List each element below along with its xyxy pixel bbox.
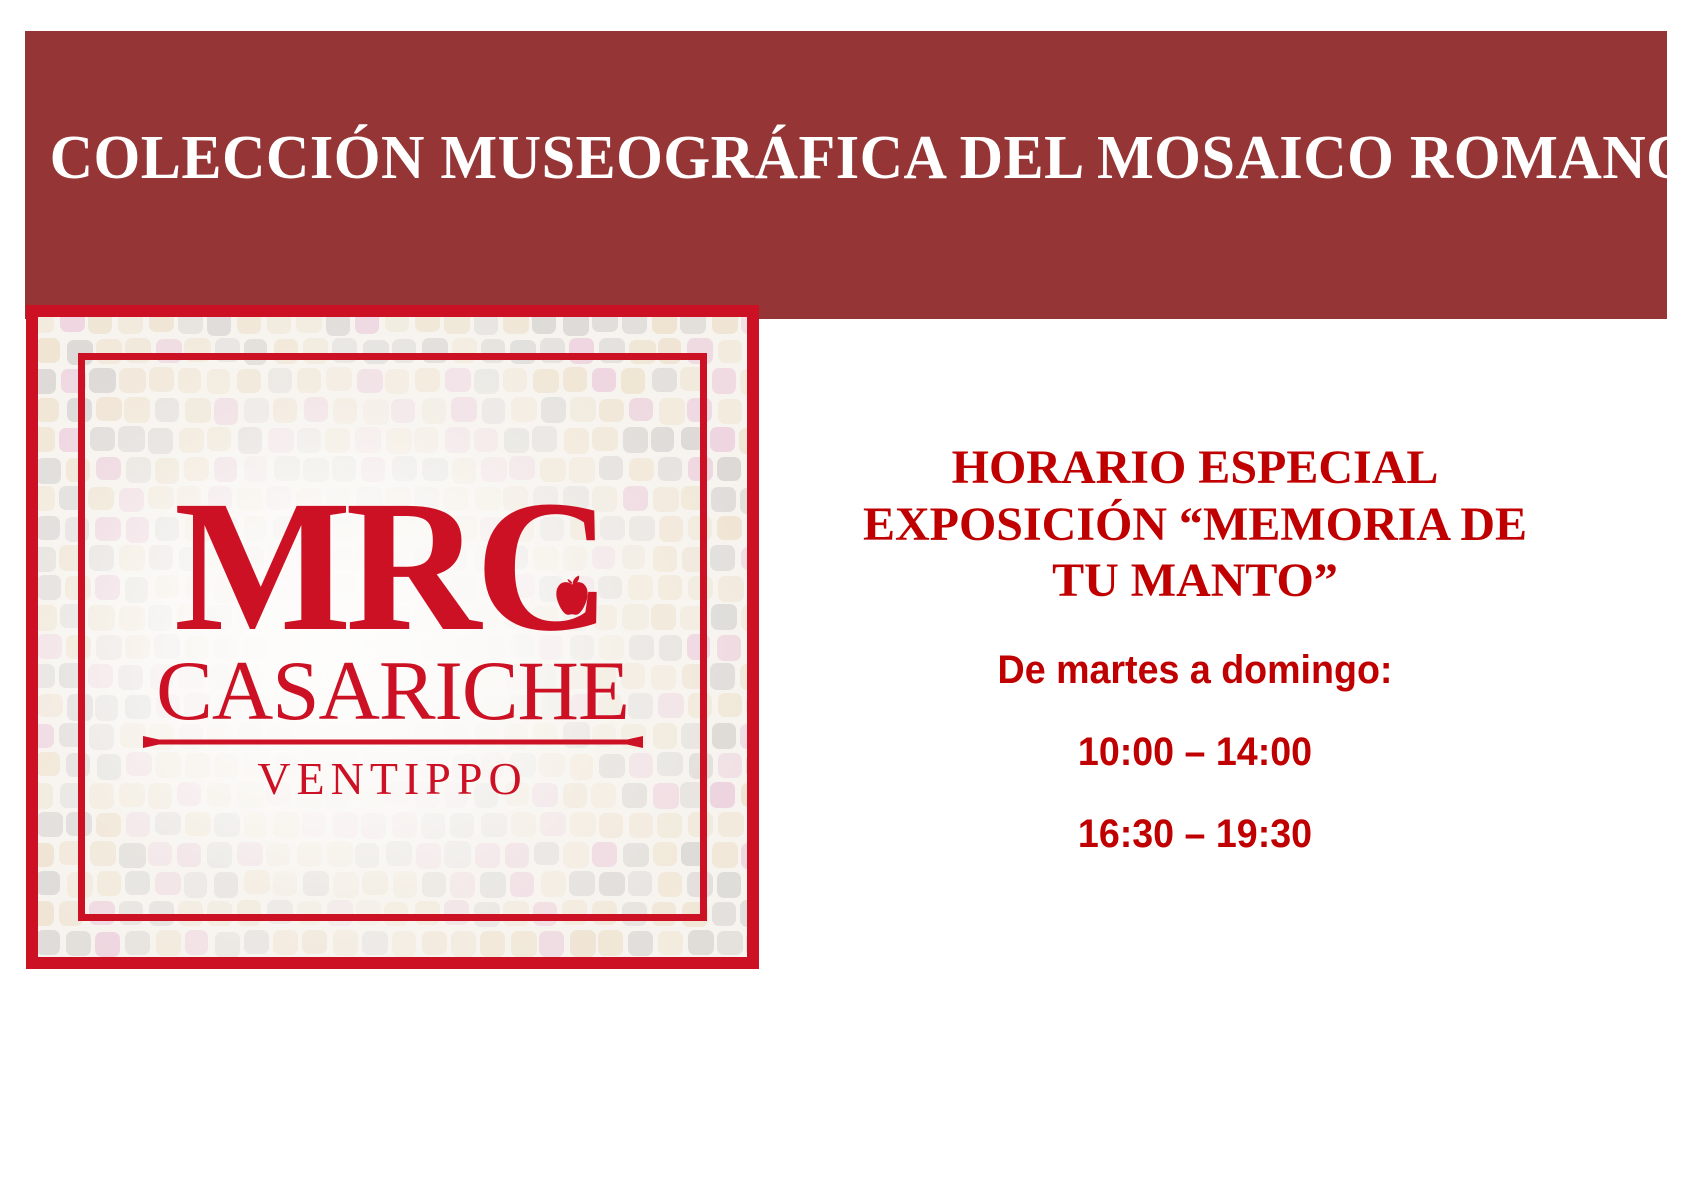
mosaic-tile: [297, 901, 322, 925]
mosaic-tile: [149, 367, 174, 392]
mosaic-tile: [628, 575, 653, 600]
mosaic-tile: [66, 635, 90, 659]
mosaic-tile: [503, 368, 527, 392]
mosaic-tile: [244, 870, 270, 894]
mosaic-tile: [119, 783, 145, 807]
mosaic-tile: [682, 547, 706, 572]
mosaic-tile: [185, 398, 211, 422]
mosaic-tile: [38, 317, 54, 333]
mosaic-tile: [421, 576, 447, 600]
mosaic-tile: [746, 754, 747, 778]
mosaic-tile: [422, 872, 446, 897]
mosaic-tile: [421, 693, 445, 718]
mosaic-tile: [238, 427, 262, 454]
mosaic-tile: [156, 694, 180, 719]
mosaic-tile: [718, 812, 744, 837]
mosaic-tile: [184, 338, 210, 362]
mosaic-tile: [97, 754, 121, 780]
mosaic-tile: [475, 663, 501, 689]
mosaic-tile: [357, 369, 383, 393]
mosaic-tile: [274, 575, 299, 599]
mosaic-tile: [363, 340, 389, 364]
mosaic-tile-grid: [38, 317, 747, 957]
mosaic-tile: [653, 723, 677, 749]
mosaic-tile: [415, 665, 440, 691]
mosaic-tile: [539, 931, 564, 957]
mosaic-tile: [505, 843, 529, 868]
mosaic-tile: [541, 693, 565, 720]
mosaic-tile: [421, 813, 446, 839]
mosaic-tile: [96, 635, 122, 660]
mosaic-tile: [96, 457, 122, 481]
mosaic-tile: [444, 546, 468, 570]
mosaic-tile: [385, 369, 409, 394]
mosaic-tile: [325, 783, 351, 807]
mosaic-tile: [207, 369, 231, 394]
mosaic-tile: [118, 426, 145, 451]
mosaic-tile: [652, 317, 677, 334]
mosaic-tile: [178, 317, 204, 334]
schedule-days: De martes a domingo:: [824, 650, 1567, 690]
mosaic-tile: [385, 605, 409, 629]
mosaic-tile: [563, 317, 589, 336]
header-banner: COLECCIÓN MUSEOGRÁFICA DEL MOSAICO ROMAN…: [25, 31, 1667, 319]
mosaic-tile: [712, 902, 736, 926]
mosaic-tile: [475, 843, 501, 868]
mosaic-tile: [119, 606, 145, 631]
mosaic-tile: [96, 813, 121, 837]
mosaic-tile: [326, 317, 350, 336]
mosaic-tile: [688, 457, 713, 481]
mosaic-tile: [60, 317, 85, 332]
mosaic-tile: [326, 546, 351, 570]
mosaic-tile: [362, 871, 388, 895]
mosaic-tile: [179, 428, 204, 453]
mosaic-tile: [356, 783, 381, 808]
mosaic-tile: [712, 723, 737, 749]
mosaic-tile: [177, 486, 201, 511]
mosaic-tile: [297, 665, 323, 691]
mosaic-tile: [712, 317, 738, 334]
mosaic-tile: [652, 368, 677, 392]
mosaic-tile: [570, 754, 594, 780]
mosaic-tile: [504, 428, 529, 453]
mosaic-tile: [592, 664, 616, 689]
mosaic-tile: [67, 872, 93, 898]
mosaic-tile: [681, 427, 705, 451]
mosaic-tile: [273, 694, 298, 718]
mosaic-tile: [415, 317, 440, 332]
mosaic-tile: [207, 842, 232, 868]
mosaic-tile: [88, 317, 112, 334]
mosaic-tile: [629, 635, 654, 660]
mosaic-tile: [38, 369, 56, 394]
mosaic-tile: [592, 724, 617, 748]
mosaic-tile: [475, 604, 499, 630]
mosaic-tile: [570, 694, 595, 719]
mosaic-tile: [445, 427, 471, 453]
mosaic-tile: [747, 635, 748, 659]
mosaic-tile: [244, 339, 268, 365]
mosaic-tile: [38, 694, 63, 718]
mosaic-tile: [628, 931, 653, 956]
mosaic-tile: [273, 930, 298, 955]
mosaic-tile: [710, 663, 735, 690]
mosaic-tile: [119, 843, 145, 868]
mosaic-tile: [688, 693, 712, 718]
mosaic-tile: [148, 783, 172, 809]
mosaic-tile: [450, 813, 474, 839]
mosaic-tile: [393, 516, 417, 540]
mosaic-tile: [504, 724, 529, 750]
mosaic-tile: [592, 486, 617, 512]
mosaic-tile: [148, 428, 173, 454]
mosaic-tile: [414, 606, 440, 631]
mosaic-tile: [119, 488, 145, 512]
mosaic-tile: [38, 901, 54, 926]
mosaic-tile: [510, 517, 535, 542]
mosaic-tile: [444, 841, 471, 867]
mosaic-tile: [651, 665, 676, 690]
mosaic-tile: [125, 931, 151, 955]
mosaic-tile: [126, 517, 150, 543]
mosaic-tile: [687, 338, 713, 364]
mosaic-tile: [599, 456, 623, 480]
mosaic-tile: [740, 724, 747, 748]
mosaic-tile: [207, 783, 231, 807]
mosaic-tile: [445, 606, 471, 630]
mosaic-tile: [509, 695, 533, 719]
mosaic-tile: [385, 317, 409, 332]
mosaic-tile: [362, 931, 388, 955]
mosaic-tile: [38, 458, 61, 484]
mosaic-tile: [213, 636, 237, 660]
mosaic-tile: [38, 871, 60, 895]
mosaic-tile: [155, 812, 181, 836]
mosaic-tile: [747, 870, 748, 894]
mosaic-tile: [38, 724, 54, 748]
mosaic-tile: [718, 693, 743, 717]
mosaic-tile: [362, 576, 388, 601]
mosaic-tile: [540, 517, 564, 541]
schedule-morning-hours: 10:00 – 14:00: [824, 732, 1567, 772]
mosaic-tile: [592, 368, 616, 392]
mosaic-tile: [481, 695, 507, 721]
mosaic-tile: [355, 427, 381, 453]
mosaic-tile: [481, 339, 505, 364]
mosaic-tile: [178, 901, 203, 927]
mosaic-tile: [155, 575, 179, 599]
mosaic-tile: [332, 753, 358, 780]
mosaic-tile: [481, 457, 508, 482]
mosaic-tile: [119, 368, 146, 393]
mosaic-tile: [740, 369, 747, 395]
mosaic-tile: [184, 693, 210, 719]
mosaic-tile: [361, 813, 386, 839]
mosaic-tile: [681, 486, 705, 510]
mosaic-tile: [149, 317, 174, 332]
mosaic-tile: [332, 694, 357, 718]
mosaic-tile: [711, 487, 736, 512]
mosaic-tile: [120, 723, 147, 748]
mosaic-tile: [450, 516, 476, 540]
mosaic-tile: [67, 694, 93, 721]
mosaic-tile: [148, 486, 174, 510]
mosaic-tile: [746, 931, 747, 956]
mosaic-tile: [474, 902, 500, 927]
mosaic-tile: [237, 488, 262, 512]
mosaic-tile: [244, 516, 268, 541]
mosaic-tile: [740, 664, 747, 690]
mosaic-tile: [185, 812, 211, 836]
mosaic-tile: [185, 575, 210, 601]
mosaic-tile: [214, 457, 238, 482]
mosaic-tile: [563, 722, 590, 747]
mosaic-tile: [414, 722, 438, 747]
mosaic-tile: [185, 636, 209, 660]
mosaic-tile: [385, 782, 409, 806]
mosaic-tile: [629, 813, 653, 838]
mosaic-tile: [214, 576, 238, 602]
mosaic-tile: [623, 843, 649, 867]
mosaic-tile: [710, 427, 735, 452]
mosaic-tile: [38, 547, 56, 573]
mosaic-tile: [533, 902, 557, 927]
mosaic-tile: [570, 576, 594, 601]
mosaic-tile: [38, 398, 59, 422]
mosaic-tile: [362, 753, 388, 778]
mosaic-tile: [563, 605, 589, 631]
mosaic-tile: [444, 317, 470, 334]
mosaic-tile: [333, 812, 358, 838]
mosaic-tile: [474, 369, 499, 394]
mosaic-tile: [563, 486, 589, 510]
mosaic-tile: [570, 635, 594, 660]
mosaic-tile: [503, 486, 528, 512]
mosaic-tile: [150, 664, 174, 690]
mosaic-tile: [680, 367, 705, 391]
mosaic-tile: [208, 664, 233, 690]
mosaic-tile: [65, 576, 91, 600]
mosaic-tile: [237, 665, 262, 689]
mosaic-tile: [541, 871, 567, 897]
mosaic-tile: [680, 317, 706, 334]
mosaic-tile: [297, 605, 323, 629]
mosaic-tile: [156, 930, 181, 956]
mosaic-tile: [717, 516, 743, 540]
mosaic-tile: [125, 635, 151, 659]
mosaic-tile: [208, 546, 234, 570]
mosaic-tile: [326, 367, 352, 391]
mosaic-tile: [303, 517, 327, 541]
mosaic-tile: [416, 843, 441, 869]
mosaic-tile: [482, 398, 506, 423]
mosaic-tile: [740, 488, 747, 514]
mosaic-tile: [237, 317, 262, 334]
mosaic-tile: [95, 932, 120, 957]
mosaic-tile: [533, 723, 558, 747]
mosaic-tile: [38, 783, 53, 809]
mosaic-tile: [710, 782, 735, 808]
mosaic-tile: [510, 340, 536, 364]
mosaic-tile: [443, 665, 470, 690]
exhibition-heading: HORARIO ESPECIAL EXPOSICIÓN “MEMORIA DE …: [800, 440, 1590, 610]
mosaic-tile: [598, 576, 622, 600]
mosaic-tile: [385, 487, 411, 511]
mosaic-tile: [325, 428, 350, 453]
mosaic-tile: [689, 753, 713, 779]
mosaic-tile: [303, 871, 329, 896]
mosaic-tile: [59, 663, 85, 688]
mosaic-tile: [629, 398, 654, 422]
mosaic-tile: [386, 663, 411, 689]
mosaic-tile: [296, 317, 322, 333]
mosaic-tile: [208, 486, 232, 511]
mosaic-tile: [563, 367, 587, 392]
mosaic-tile: [67, 340, 93, 365]
mosaic-tile: [658, 338, 682, 364]
mosaic-tile: [238, 722, 262, 747]
mosaic-tile: [244, 813, 268, 839]
mosaic-tile: [303, 458, 329, 482]
mosaic-tile: [511, 397, 537, 422]
mosaic-tile: [570, 397, 596, 423]
museum-logo-panel: MRC CASARICHE VENTIPPO: [26, 305, 759, 969]
mosaic-tile: [533, 486, 558, 512]
mosaic-tile: [266, 843, 290, 867]
mosaic-tile: [88, 605, 114, 631]
mosaic-tile: [384, 902, 408, 926]
mosaic-tile: [356, 900, 381, 925]
mosaic-tile: [244, 456, 268, 482]
mosaic-tile: [682, 902, 708, 927]
mosaic-tile: [38, 516, 60, 540]
mosaic-tile: [38, 664, 55, 688]
mosaic-tile: [532, 606, 558, 630]
mosaic-tile: [532, 783, 558, 808]
opening-hours: De martes a domingo: 10:00 – 14:00 16:30…: [800, 650, 1590, 854]
page-title: COLECCIÓN MUSEOGRÁFICA DEL MOSAICO ROMAN…: [50, 127, 1643, 189]
mosaic-tile: [237, 900, 261, 926]
mosaic-tile: [386, 428, 412, 454]
mosaic-tile: [533, 664, 557, 690]
mosaic-tile: [207, 427, 231, 451]
mosaic-tile: [95, 517, 120, 542]
mosaic-tile: [38, 486, 55, 511]
mosaic-tile: [598, 694, 622, 720]
mosaic-tile: [452, 458, 476, 484]
mosaic-tile: [653, 487, 679, 512]
mosaic-tile: [629, 516, 655, 541]
mosaic-tile: [414, 427, 438, 453]
mosaic-tile: [125, 695, 151, 719]
mosaic-tile: [333, 930, 358, 956]
mosaic-tile: [363, 399, 389, 425]
mosaic-tile: [304, 635, 330, 661]
mosaic-tile: [747, 458, 748, 483]
mosaic-tile: [155, 517, 179, 541]
mosaic-tile: [88, 664, 113, 688]
mosaic-tile: [38, 338, 60, 364]
mosaic-tile: [302, 812, 326, 837]
mosaic-tile: [392, 339, 416, 363]
mosaic-tile: [657, 752, 683, 776]
mosaic-tile: [622, 902, 646, 926]
mosaic-tile: [273, 871, 297, 896]
mosaic-tile: [629, 458, 654, 482]
mosaic-tile: [651, 604, 677, 629]
mosaic-tile: [599, 872, 625, 896]
mosaic-tile: [213, 517, 238, 543]
mosaic-tile: [504, 545, 528, 569]
mosaic-tile: [65, 517, 89, 542]
mosaic-tile: [89, 901, 116, 925]
mosaic-tile: [503, 901, 529, 926]
mosaic-tile: [629, 753, 653, 778]
mosaic-tile: [59, 428, 84, 452]
schedule-info-block: HORARIO ESPECIAL EXPOSICIÓN “MEMORIA DE …: [800, 440, 1590, 854]
mosaic-tile: [452, 338, 477, 362]
mosaic-tile: [274, 456, 300, 481]
mosaic-tile: [511, 812, 536, 837]
mosaic-tile: [452, 754, 477, 780]
mosaic-tile: [355, 605, 380, 629]
mosaic-tile: [740, 900, 747, 926]
mosaic-tile: [414, 547, 440, 571]
mosaic-tile: [386, 841, 412, 866]
mosaic-tile: [444, 900, 469, 924]
mosaic-tile: [622, 604, 648, 630]
mosaic-tile: [593, 605, 617, 631]
mosaic-tile: [391, 576, 415, 601]
mosaic-tile: [302, 930, 327, 955]
mosaic-tile: [746, 695, 747, 719]
mosaic-tile: [474, 783, 498, 808]
mosaic-tile: [184, 872, 208, 898]
mosaic-tile: [149, 724, 174, 750]
mosaic-tile: [179, 724, 203, 749]
mosaic-tile: [155, 752, 181, 778]
mosaic-tile: [66, 812, 92, 836]
mosaic-tile: [244, 398, 268, 423]
mosaic-tile: [274, 339, 298, 364]
mosaic-tile: [267, 724, 291, 750]
mosaic-tile: [569, 457, 595, 483]
mosaic-tile: [422, 458, 448, 482]
mosaic-background: MRC CASARICHE VENTIPPO: [38, 317, 747, 957]
mosaic-tile: [59, 901, 83, 927]
mosaic-tile: [509, 456, 535, 480]
mosaic-tile: [118, 317, 143, 334]
mosaic-tile: [562, 900, 587, 925]
mosaic-tile: [327, 900, 353, 926]
heading-line-2: EXPOSICIÓN “MEMORIA DE: [800, 497, 1590, 554]
mosaic-tile: [90, 841, 116, 866]
mosaic-tile: [327, 841, 353, 867]
mosaic-tile: [38, 605, 57, 631]
mosaic-tile: [681, 842, 705, 866]
mosaic-tile: [541, 397, 567, 423]
mosaic-tile: [421, 515, 447, 541]
mosaic-tile: [297, 428, 321, 453]
mosaic-tile: [126, 812, 150, 837]
mosaic-tile: [126, 752, 152, 776]
mosaic-tile: [124, 397, 150, 423]
mosaic-tile: [393, 752, 419, 777]
mosaic-tile: [296, 488, 321, 514]
mosaic-tile: [148, 842, 173, 866]
mosaic-tile: [563, 664, 589, 689]
